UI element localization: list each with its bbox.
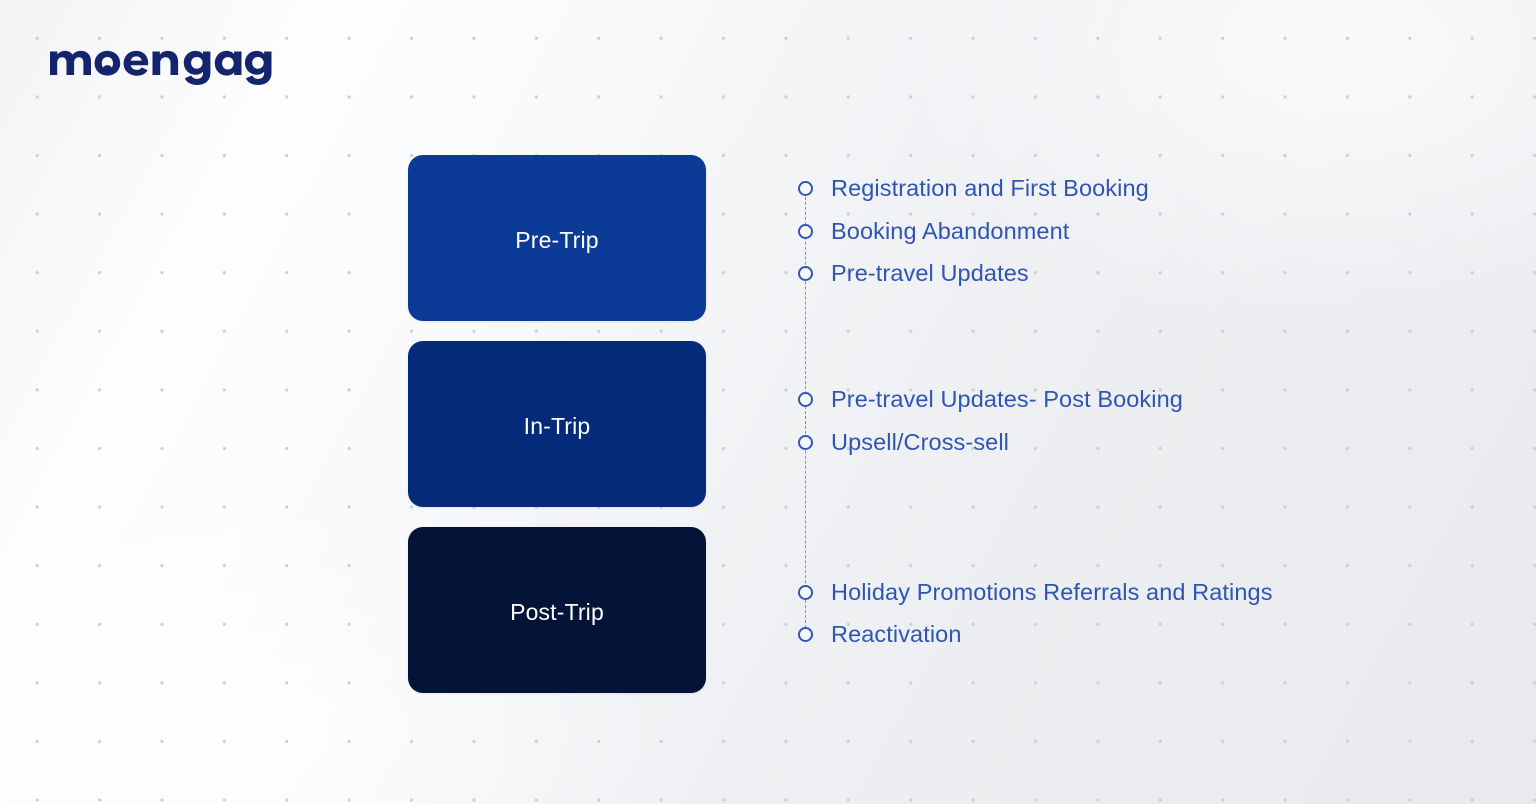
stage-card-label: Pre-Trip [515, 229, 598, 252]
timeline-item-label: Upsell/Cross-sell [831, 429, 1009, 455]
timeline-item[interactable]: Reactivation [795, 621, 962, 647]
timeline-item[interactable]: Booking Abandonment [795, 218, 1069, 244]
timeline-circle-marker-icon [798, 266, 813, 281]
stage-card-label: Post-Trip [510, 601, 604, 624]
timeline-item-label: Holiday Promotions Referrals and Ratings [831, 579, 1273, 605]
timeline-item-label: Pre-travel Updates [831, 260, 1029, 286]
timeline-item-label: Pre-travel Updates- Post Booking [831, 386, 1183, 412]
timeline-item[interactable]: Pre-travel Updates- Post Booking [795, 386, 1183, 412]
timeline-circle-marker-icon [798, 392, 813, 407]
timeline-circle-marker-icon [798, 224, 813, 239]
timeline-item-label: Registration and First Booking [831, 175, 1149, 201]
timeline-circle-marker-icon [798, 627, 813, 642]
timeline-item-label: Reactivation [831, 621, 962, 647]
timeline-circle-marker-icon [798, 435, 813, 450]
timeline-circle-marker-icon [798, 585, 813, 600]
timeline-item[interactable]: Upsell/Cross-sell [795, 429, 1009, 455]
stage-card-post-trip[interactable]: Post-Trip [408, 527, 706, 693]
timeline-item[interactable]: Holiday Promotions Referrals and Ratings [795, 579, 1273, 605]
slide-canvas: Pre-Trip In-Trip Post-Trip Registration … [0, 0, 1536, 804]
stage-card-label: In-Trip [524, 415, 591, 438]
journey-timeline: Registration and First Booking Booking A… [795, 155, 1415, 655]
moengage-wordmark-icon [50, 41, 272, 85]
moengage-logo [50, 41, 272, 85]
timeline-item[interactable]: Registration and First Booking [795, 175, 1149, 201]
stage-card-pre-trip[interactable]: Pre-Trip [408, 155, 706, 321]
timeline-circle-marker-icon [798, 181, 813, 196]
stage-card-in-trip[interactable]: In-Trip [408, 341, 706, 507]
timeline-item-label: Booking Abandonment [831, 218, 1069, 244]
timeline-item[interactable]: Pre-travel Updates [795, 260, 1029, 286]
